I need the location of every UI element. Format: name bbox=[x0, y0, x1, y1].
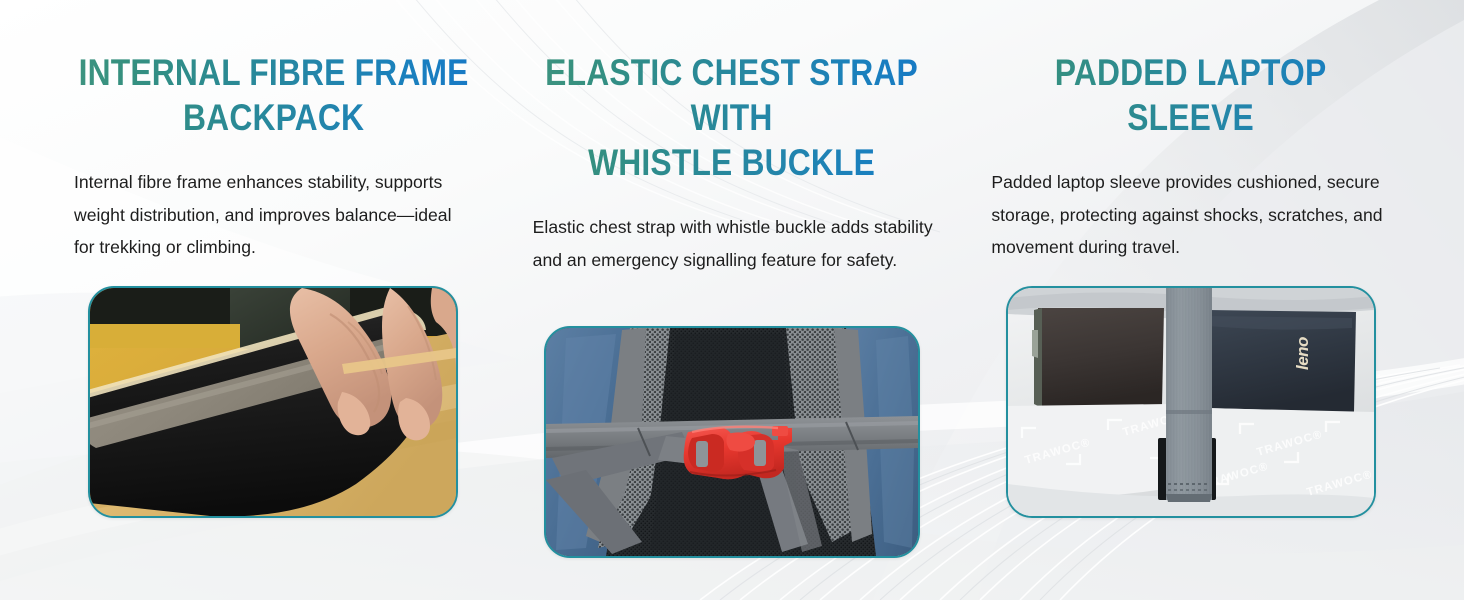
feature-image-card-1 bbox=[88, 286, 458, 518]
feature-image-card-3: leno TRAWOC® TRAWOC® bbox=[1006, 286, 1376, 518]
feature-banner: INTERNAL FIBRE FRAME BACKPACK Internal f… bbox=[0, 0, 1464, 600]
svg-text:leno: leno bbox=[1293, 337, 1312, 370]
feature-title-2: ELASTIC CHEST STRAP WITH WHISTLE BUCKLE bbox=[528, 50, 937, 185]
internal-fibre-frame-photo bbox=[90, 288, 456, 516]
feature-title-3: PADDED LAPTOP SLEEVE bbox=[986, 50, 1395, 140]
laptop-brand-mark: leno bbox=[1293, 337, 1312, 370]
feature-column-internal-fibre-frame: INTERNAL FIBRE FRAME BACKPACK Internal f… bbox=[0, 0, 503, 600]
feature-column-padded-laptop-sleeve: PADDED LAPTOP SLEEVE Padded laptop sleev… bbox=[961, 0, 1464, 600]
padded-laptop-sleeve-photo: leno TRAWOC® TRAWOC® bbox=[1008, 288, 1374, 516]
feature-description-3: Padded laptop sleeve provides cushioned,… bbox=[989, 166, 1392, 264]
feature-column-elastic-chest-strap: ELASTIC CHEST STRAP WITH WHISTLE BUCKLE … bbox=[503, 0, 962, 600]
feature-columns: INTERNAL FIBRE FRAME BACKPACK Internal f… bbox=[0, 0, 1464, 600]
feature-description-1: Internal fibre frame enhances stability,… bbox=[72, 166, 475, 264]
feature-image-card-2 bbox=[544, 326, 920, 558]
feature-description-2: Elastic chest strap with whistle buckle … bbox=[531, 211, 934, 276]
chest-strap-whistle-buckle-photo bbox=[546, 328, 918, 556]
feature-title-1: INTERNAL FIBRE FRAME BACKPACK bbox=[69, 50, 478, 140]
